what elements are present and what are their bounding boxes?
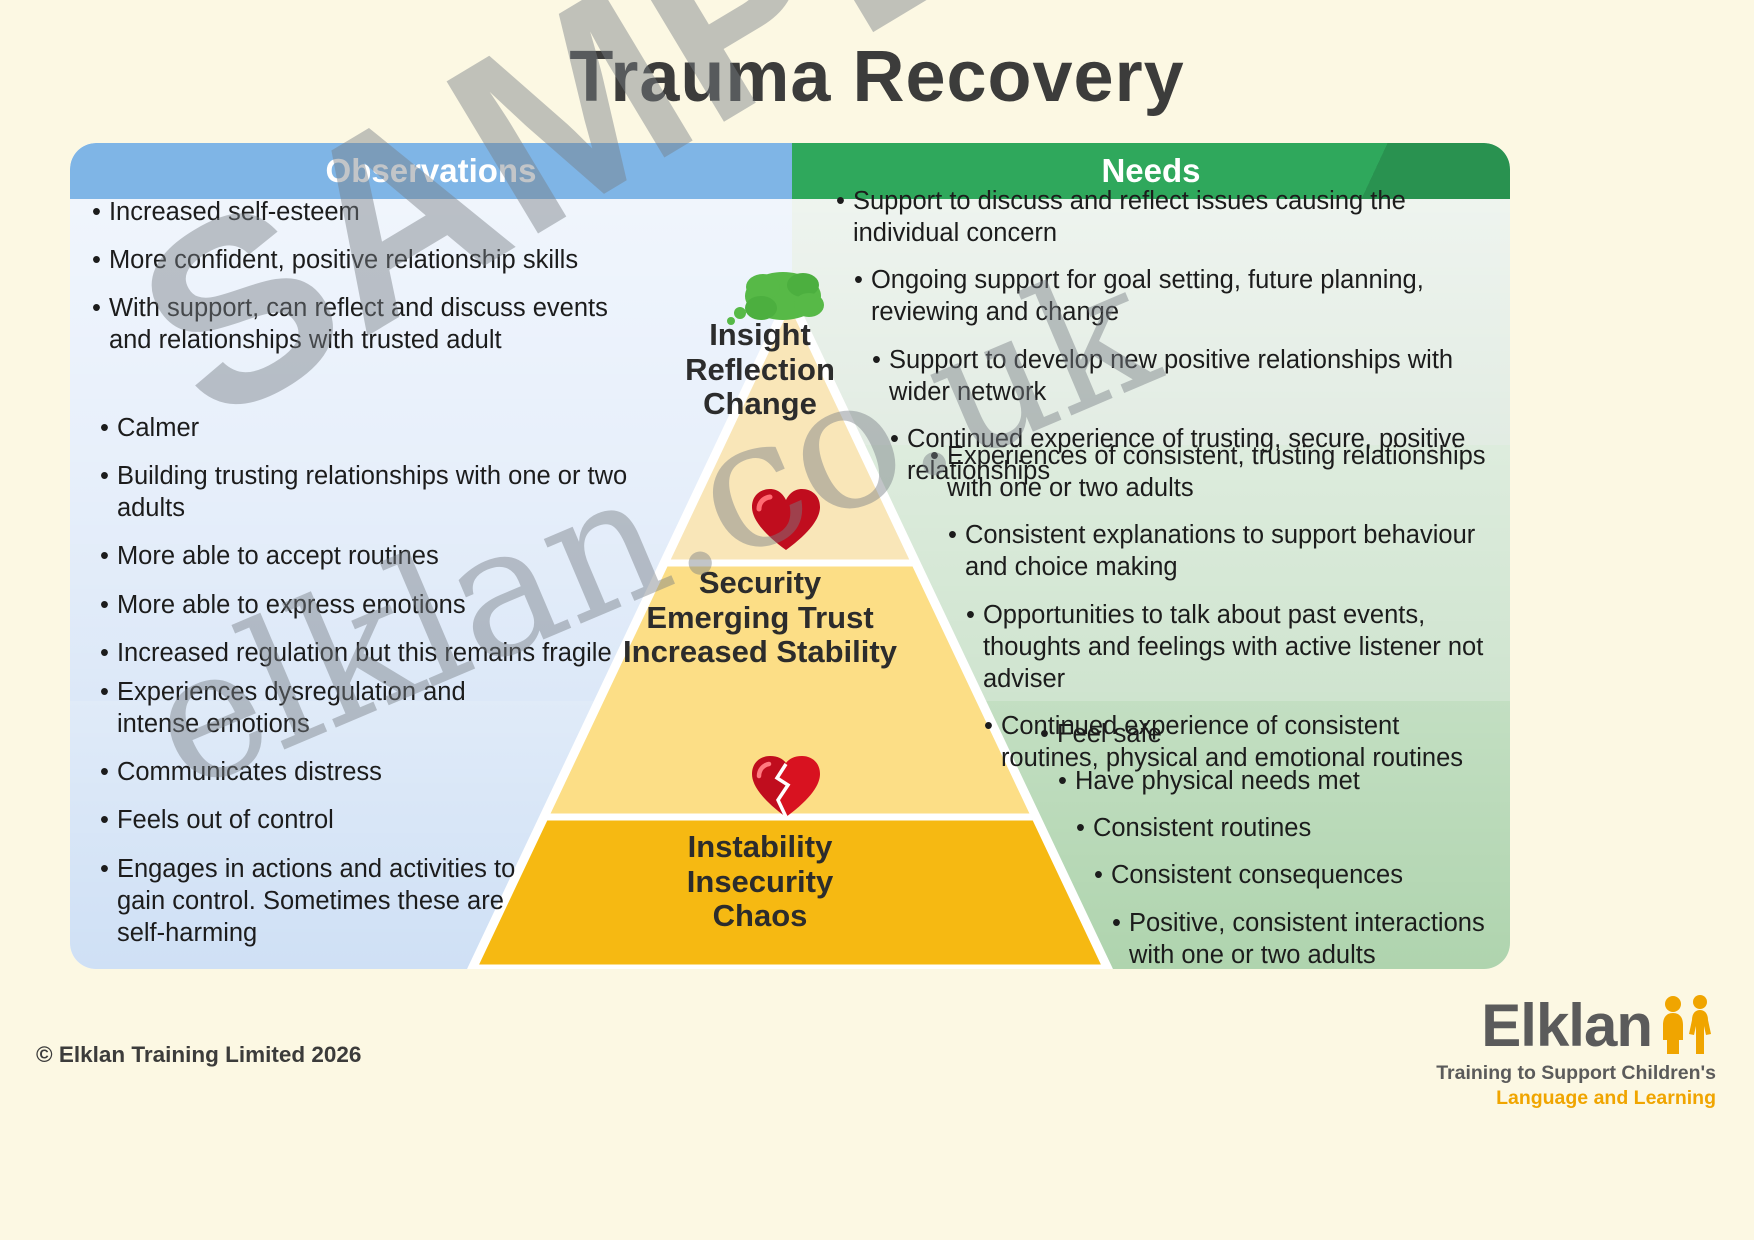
pyramid-label-top: Insight Reflection Change — [640, 318, 880, 422]
pyramid-bottom-line-1: Instability — [620, 830, 900, 865]
bullet-icon: • — [890, 423, 899, 487]
list-item: •Engages in actions and activities to ga… — [100, 853, 550, 949]
pyramid-label-middle: Security Emerging Trust Increased Stabil… — [580, 566, 940, 670]
bullet-icon: • — [100, 637, 109, 669]
broken-heart-icon — [750, 753, 822, 826]
list-item: •With support, can reflect and discuss e… — [92, 292, 652, 356]
bullet-icon: • — [1112, 907, 1121, 971]
pyramid-middle-line-3: Increased Stability — [580, 635, 940, 670]
list-item: •Consistent consequences — [1094, 859, 1500, 891]
bullet-icon: • — [1058, 765, 1067, 797]
bullet-icon: • — [1040, 718, 1049, 750]
pyramid-bottom-line-3: Chaos — [620, 899, 900, 934]
list-item-text: Opportunities to talk about past events,… — [983, 599, 1500, 695]
list-item: •Positive, consistent interactions with … — [1112, 907, 1500, 971]
list-item-text: Increased regulation but this remains fr… — [117, 637, 655, 669]
observations-list-middle: •Calmer •Building trusting relationships… — [100, 412, 655, 685]
pyramid-top-line-1: Insight — [640, 318, 880, 353]
list-item-text: Communicates distress — [117, 756, 550, 788]
list-item: •Increased self-esteem — [92, 196, 652, 228]
poster-canvas: Trauma Recovery — [0, 0, 1754, 1240]
bullet-icon: • — [100, 804, 109, 836]
list-item: •Increased regulation but this remains f… — [100, 637, 655, 669]
list-item-text: More confident, positive relationship sk… — [109, 244, 652, 276]
list-item: •Consistent routines — [1076, 812, 1500, 844]
list-item: •Calmer — [100, 412, 655, 444]
list-item: •Experiences of consistent, trusting rel… — [930, 440, 1500, 504]
needs-list-bottom: •Feel safe •Have physical needs met •Con… — [1040, 718, 1500, 986]
list-item: •Support to discuss and reflect issues c… — [836, 185, 1496, 249]
list-item: •Opportunities to talk about past events… — [966, 599, 1500, 695]
list-item-text: More able to accept routines — [117, 540, 655, 572]
bullet-icon: • — [948, 519, 957, 583]
list-item: •Consistent explanations to support beha… — [948, 519, 1500, 583]
pyramid-bottom-line-2: Insecurity — [620, 865, 900, 900]
bullet-icon: • — [1094, 859, 1103, 891]
list-item-text: Experiences of consistent, trusting rela… — [947, 440, 1500, 504]
bullet-icon: • — [100, 676, 109, 740]
logo-wordmark: Elklan — [1481, 996, 1652, 1056]
list-item-text: Consistent consequences — [1111, 859, 1500, 891]
bullet-icon: • — [100, 756, 109, 788]
observations-header-label: Observations — [326, 152, 537, 190]
logo-tagline-1: Training to Support Children's — [1396, 1062, 1716, 1085]
bullet-icon: • — [984, 710, 993, 774]
observations-list-top: •Increased self-esteem •More confident, … — [92, 196, 652, 373]
list-item-text: More able to express emotions — [117, 589, 655, 621]
list-item-text: Support to discuss and reflect issues ca… — [853, 185, 1496, 249]
bullet-icon: • — [92, 196, 101, 228]
list-item-text: Engages in actions and activities to gai… — [117, 853, 550, 949]
people-icon — [1656, 992, 1716, 1056]
list-item: •Experiences dysregulation and intense e… — [100, 676, 550, 740]
pyramid-top-line-2: Reflection — [640, 353, 880, 388]
bullet-icon: • — [1076, 812, 1085, 844]
pyramid-top-line-3: Change — [640, 387, 880, 422]
list-item-text: Increased self-esteem — [109, 196, 652, 228]
list-item-text: Support to develop new positive relation… — [889, 344, 1496, 408]
copyright-text: © Elklan Training Limited 2026 — [36, 1042, 361, 1068]
elklan-logo: Elklan Training to Support Children's La… — [1396, 992, 1716, 1110]
bullet-icon: • — [92, 244, 101, 276]
pyramid-middle-line-2: Emerging Trust — [580, 601, 940, 636]
bullet-icon: • — [100, 540, 109, 572]
list-item: •Communicates distress — [100, 756, 550, 788]
list-item: •Feel safe — [1040, 718, 1500, 750]
list-item-text: Feel safe — [1057, 718, 1500, 750]
list-item-text: With support, can reflect and discuss ev… — [109, 292, 652, 356]
list-item: •Have physical needs met — [1058, 765, 1500, 797]
list-item: •Feels out of control — [100, 804, 550, 836]
list-item-text: Experiences dysregulation and intense em… — [117, 676, 550, 740]
list-item: •More able to express emotions — [100, 589, 655, 621]
bullet-icon: • — [92, 292, 101, 356]
list-item-text: Feels out of control — [117, 804, 550, 836]
list-item-text: Have physical needs met — [1075, 765, 1500, 797]
bullet-icon: • — [100, 460, 109, 524]
pyramid-label-bottom: Instability Insecurity Chaos — [620, 830, 900, 934]
list-item-text: Ongoing support for goal setting, future… — [871, 264, 1496, 328]
red-heart-icon — [750, 487, 822, 558]
bullet-icon: • — [100, 412, 109, 444]
list-item-text: Positive, consistent interactions with o… — [1129, 907, 1500, 971]
list-item-text: Consistent routines — [1093, 812, 1500, 844]
list-item: •Support to develop new positive relatio… — [872, 344, 1496, 408]
pyramid-middle-line-1: Security — [580, 566, 940, 601]
bullet-icon: • — [966, 599, 975, 695]
list-item: •More confident, positive relationship s… — [92, 244, 652, 276]
observations-list-bottom: •Experiences dysregulation and intense e… — [100, 676, 550, 965]
bullet-icon: • — [100, 853, 109, 949]
logo-tagline-2: Language and Learning — [1396, 1087, 1716, 1110]
tab-observations[interactable]: Observations — [70, 143, 792, 199]
bullet-icon: • — [836, 185, 845, 249]
list-item: •Building trusting relationships with on… — [100, 460, 655, 524]
list-item: •Ongoing support for goal setting, futur… — [854, 264, 1496, 328]
list-item-text: Building trusting relationships with one… — [117, 460, 655, 524]
bullet-icon: • — [100, 589, 109, 621]
bullet-icon: • — [930, 440, 939, 504]
list-item: •More able to accept routines — [100, 540, 655, 572]
list-item-text: Consistent explanations to support behav… — [965, 519, 1500, 583]
page-title: Trauma Recovery — [0, 36, 1754, 118]
list-item-text: Calmer — [117, 412, 655, 444]
